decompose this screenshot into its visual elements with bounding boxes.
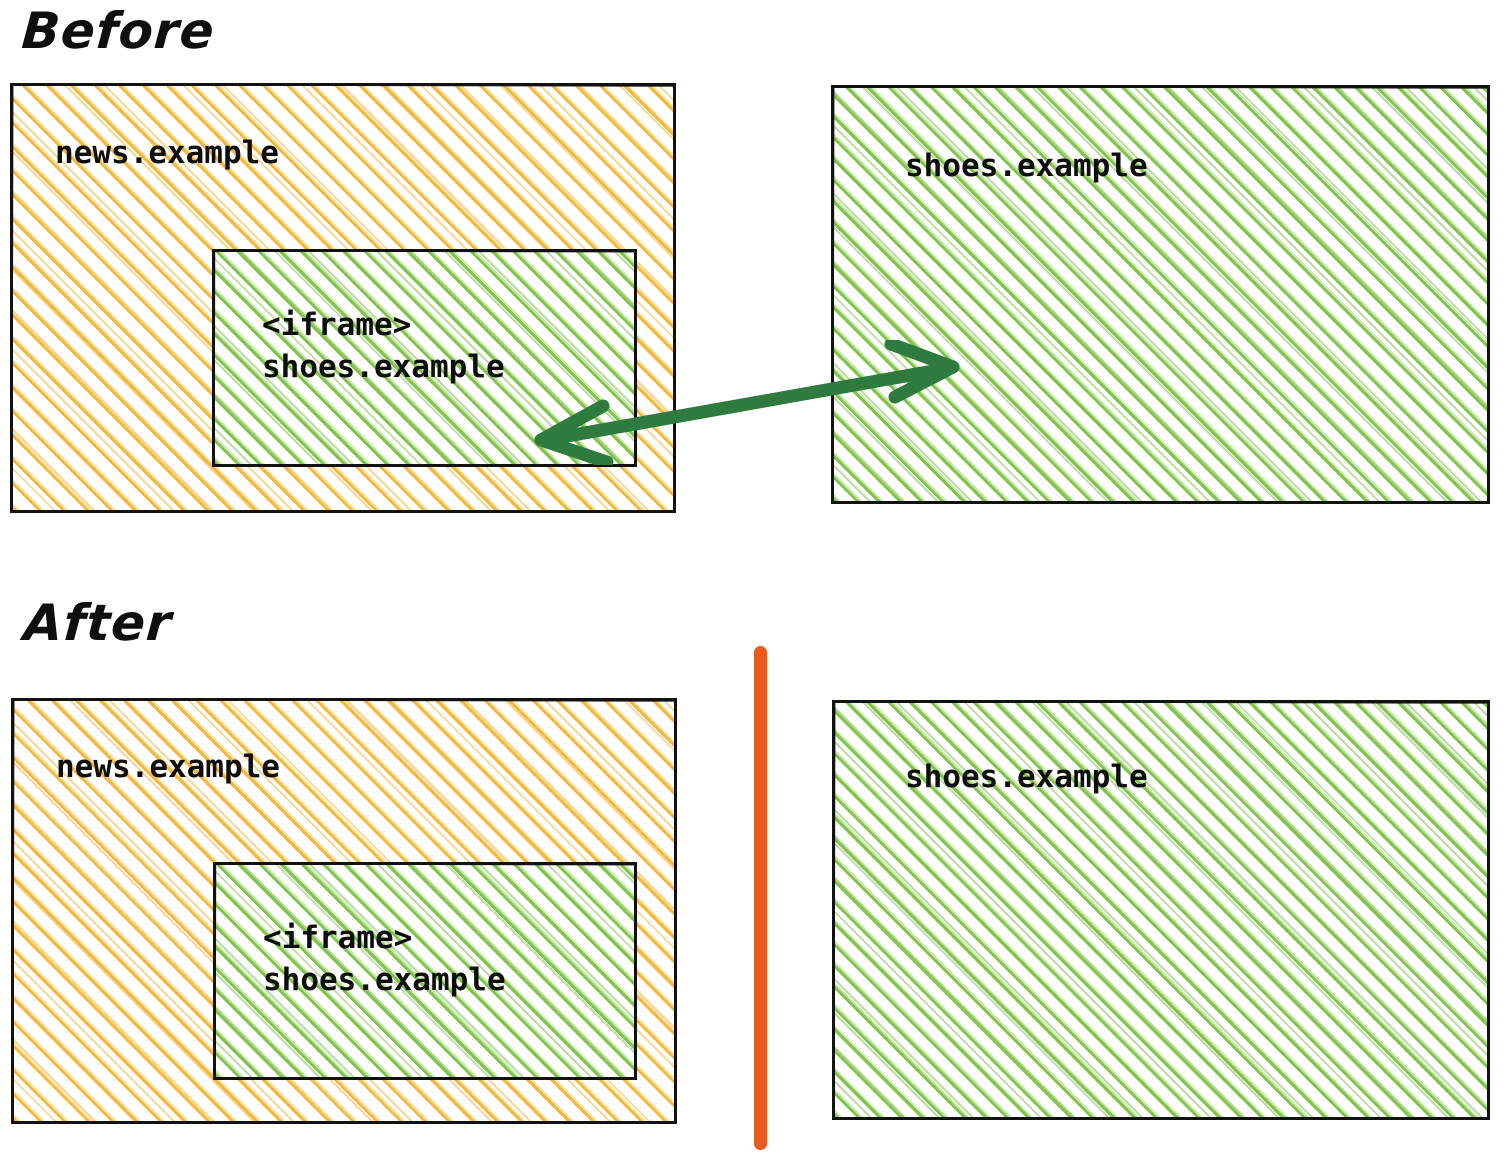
before-iframe-label-line2: shoes.example xyxy=(262,348,505,388)
section-title-after: After xyxy=(22,598,173,648)
before-news-example-label: news.example xyxy=(55,134,279,174)
partition-divider xyxy=(754,646,767,1150)
before-iframe-label-line1: <iframe> xyxy=(262,306,411,346)
after-iframe-label-line2: shoes.example xyxy=(263,961,506,1001)
diagram-canvas: { "diagram": { "title_before": "Before",… xyxy=(0,0,1506,1154)
after-shoes-example-label: shoes.example xyxy=(905,758,1148,798)
after-iframe-label-line1: <iframe> xyxy=(263,919,412,959)
section-title-before: Before xyxy=(20,6,216,56)
after-news-example-label: news.example xyxy=(56,748,280,788)
before-shoes-example-label: shoes.example xyxy=(905,147,1148,187)
